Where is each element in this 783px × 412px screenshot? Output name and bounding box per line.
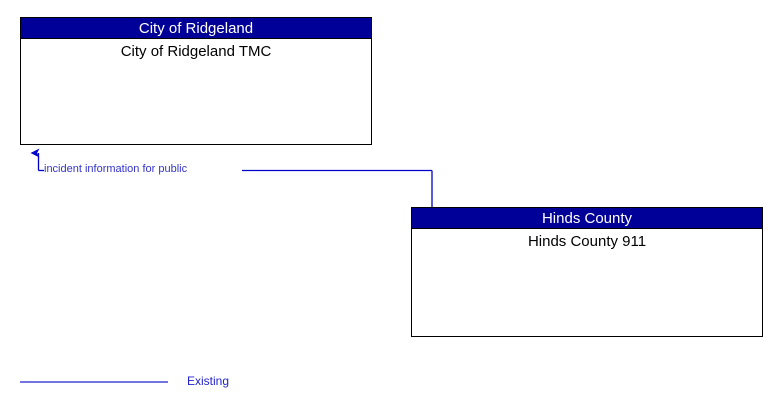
node-element-label: City of Ridgeland TMC [21, 39, 371, 61]
node-stakeholder-label: Hinds County [412, 208, 762, 229]
legend-item-existing-label: Existing [187, 374, 229, 388]
flow-incident-information-for-public[interactable] [39, 153, 433, 207]
node-city-of-ridgeland-tmc[interactable]: City of Ridgeland City of Ridgeland TMC [20, 17, 372, 145]
node-hinds-county-911[interactable]: Hinds County Hinds County 911 [411, 207, 763, 337]
node-element-label: Hinds County 911 [412, 229, 762, 251]
node-stakeholder-label: City of Ridgeland [21, 18, 371, 39]
diagram-canvas: City of Ridgeland City of Ridgeland TMC … [0, 0, 783, 412]
flow-label-incident-information-for-public[interactable]: incident information for public [44, 163, 187, 176]
